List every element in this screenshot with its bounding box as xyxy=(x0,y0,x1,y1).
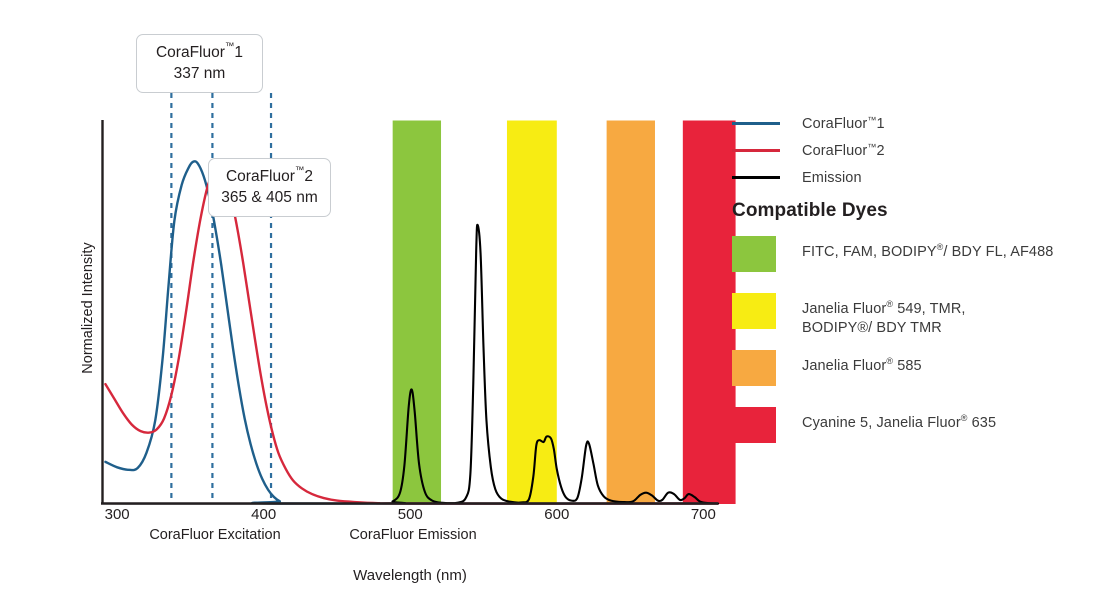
x-tick-label: 400 xyxy=(234,506,294,523)
y-axis-title: Normalized Intensity xyxy=(80,208,96,408)
dye-item[interactable]: Janelia Fluor® 585 xyxy=(732,350,1092,407)
legend-color-swatch xyxy=(732,176,780,179)
legend-item[interactable]: Emission xyxy=(732,164,1032,191)
callout1-line2: 337 nm xyxy=(174,65,226,82)
dye-band xyxy=(683,121,736,505)
series-legend: CoraFluor™1CoraFluor™2Emission xyxy=(732,110,1032,191)
compatible-dyes-list: FITC, FAM, BODIPY®/ BDY FL, AF488Janelia… xyxy=(732,236,1092,464)
dye-item[interactable]: Cyanine 5, Janelia Fluor® 635 xyxy=(732,407,1092,464)
band-layer xyxy=(393,121,736,505)
legend-item-label: Emission xyxy=(802,170,862,186)
callout2-line1: CoraFluor™2 xyxy=(226,168,313,185)
dye-item-label: Cyanine 5, Janelia Fluor® 635 xyxy=(802,407,996,433)
dye-item[interactable]: FITC, FAM, BODIPY®/ BDY FL, AF488 xyxy=(732,236,1092,293)
x-tick-label: 300 xyxy=(87,506,147,523)
dye-item-label: Janelia Fluor® 549, TMR,BODIPY®/ BDY TMR xyxy=(802,293,966,338)
dye-color-swatch xyxy=(732,407,776,443)
dye-color-swatch xyxy=(732,350,776,386)
callout1-line1: CoraFluor™1 xyxy=(156,44,243,61)
callout-corafluor-1: CoraFluor™1 337 nm xyxy=(136,34,263,93)
dye-item-label: FITC, FAM, BODIPY®/ BDY FL, AF488 xyxy=(802,236,1053,262)
legend-item[interactable]: CoraFluor™2 xyxy=(732,137,1032,164)
section-label-emission: CoraFluor Emission xyxy=(328,527,498,543)
dye-item[interactable]: Janelia Fluor® 549, TMR,BODIPY®/ BDY TMR xyxy=(732,293,1092,350)
section-label-excitation: CoraFluor Excitation xyxy=(130,527,300,543)
x-tick-label: 500 xyxy=(380,506,440,523)
compatible-dyes-title: Compatible Dyes xyxy=(732,200,888,222)
dye-band xyxy=(507,121,557,505)
x-axis-title: Wavelength (nm) xyxy=(260,567,560,584)
dye-color-swatch xyxy=(732,293,776,329)
marker-layer xyxy=(171,93,271,504)
legend-color-swatch xyxy=(732,122,780,125)
dye-color-swatch xyxy=(732,236,776,272)
legend-item-label: CoraFluor™2 xyxy=(802,143,885,159)
legend-item[interactable]: CoraFluor™1 xyxy=(732,110,1032,137)
dye-item-label: Janelia Fluor® 585 xyxy=(802,350,922,376)
x-tick-label: 700 xyxy=(673,506,733,523)
callout-corafluor-2: CoraFluor™2 365 & 405 nm xyxy=(208,158,331,217)
legend-color-swatch xyxy=(732,149,780,152)
callout2-line2: 365 & 405 nm xyxy=(221,189,318,206)
legend-item-label: CoraFluor™1 xyxy=(802,116,885,132)
x-tick-label: 600 xyxy=(527,506,587,523)
dye-band xyxy=(607,121,655,505)
